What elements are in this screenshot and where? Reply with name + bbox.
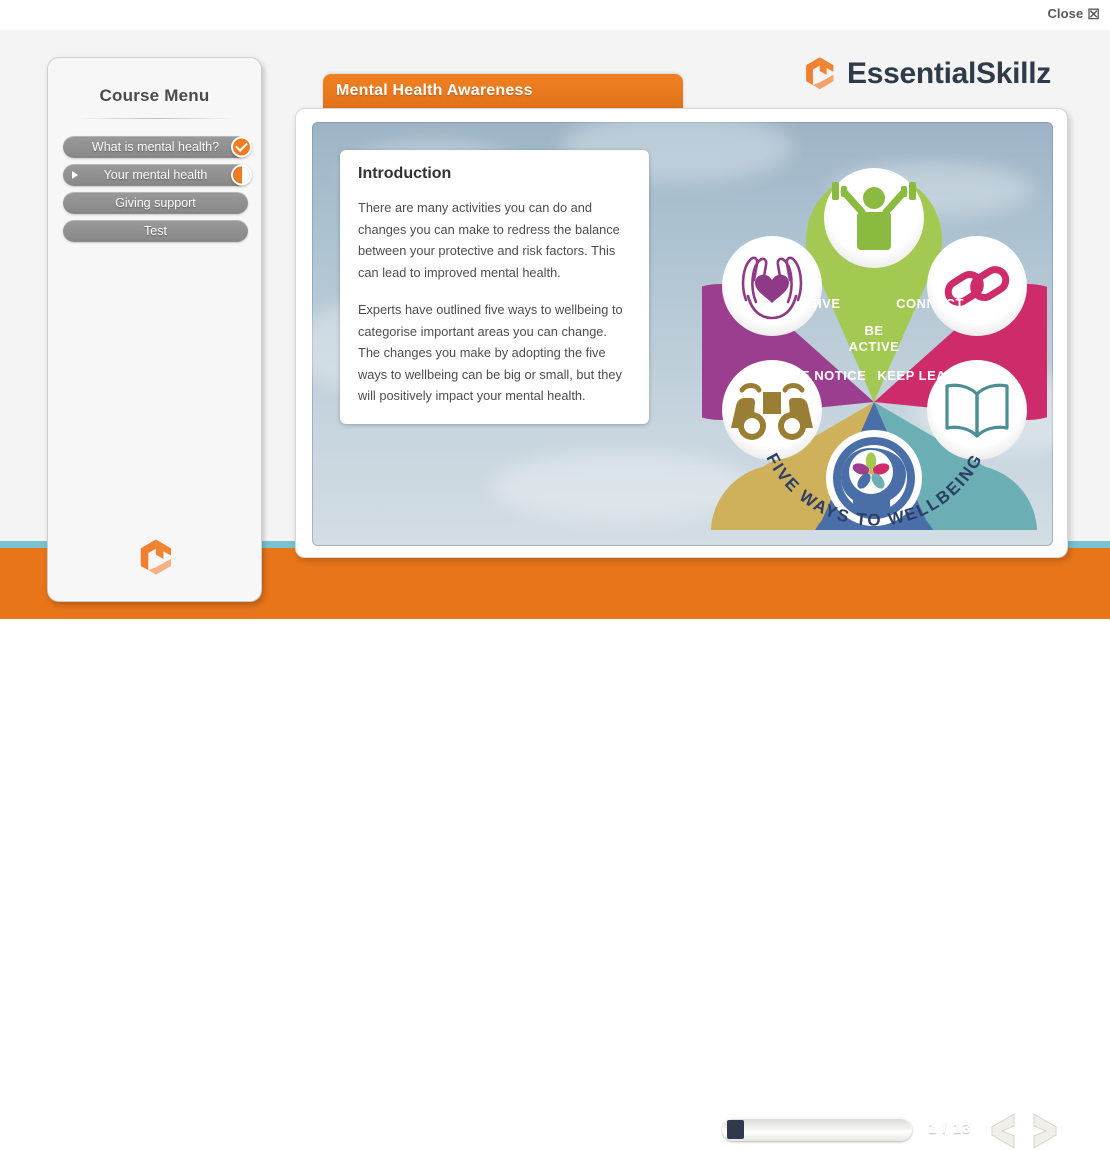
introduction-paragraph-1: There are many activities you can do and…: [358, 197, 631, 283]
brand-name: EssentialSkillz: [847, 57, 1051, 91]
next-page-button[interactable]: [1028, 1112, 1060, 1150]
sidebar-item-label: What is mental health?: [92, 140, 219, 154]
petal-label-connect: CONNECT: [896, 296, 964, 311]
page-title: Mental Health Awareness: [336, 82, 533, 100]
five-ways-to-wellbeing-graphic: GIVE BE ACTIVE CONNECT TAKE NOTICE KEEP …: [702, 130, 1047, 530]
course-menu-list: What is mental health? Your mental healt…: [63, 136, 248, 248]
introduction-panel: Introduction There are many activities y…: [340, 150, 649, 424]
player-navigation-bar: 1 / 13: [0, 548, 1110, 619]
slide-media-area: Introduction There are many activities y…: [312, 122, 1053, 546]
slide-content-card: Introduction There are many activities y…: [295, 108, 1068, 558]
be-active-icon-disc: [824, 168, 924, 268]
essentialskillz-logo-mark: [800, 55, 838, 93]
petal-label-keep-learning: KEEP LEARNING: [877, 368, 990, 383]
sidebar-item-test[interactable]: Test: [63, 220, 248, 242]
introduction-heading: Introduction: [358, 165, 631, 183]
course-menu-title: Course Menu: [48, 86, 261, 106]
page-indicator: 1 / 13: [928, 1120, 972, 1137]
boxed-x-icon: ☒: [1087, 7, 1100, 21]
brand-logo: EssentialSkillz: [800, 55, 1051, 93]
previous-page-button[interactable]: [988, 1112, 1020, 1150]
sidebar-item-your-mental-health[interactable]: Your mental health: [63, 164, 248, 186]
sidebar-item-giving-support[interactable]: Giving support: [63, 192, 248, 214]
check-circle-icon: [231, 137, 252, 158]
lesson-title-tab: Mental Health Awareness: [323, 74, 683, 110]
half-circle-icon: [231, 165, 252, 186]
close-button[interactable]: Close ☒: [1047, 6, 1100, 21]
sidebar-item-label: Giving support: [115, 196, 196, 210]
give-icon-disc: [722, 236, 822, 336]
current-item-arrow-icon: [72, 171, 78, 179]
sidebar-item-label: Test: [144, 224, 167, 238]
sidebar-item-what-is-mental-health[interactable]: What is mental health?: [63, 136, 248, 158]
progress-slider-handle[interactable]: [727, 1120, 744, 1139]
sidebar-item-label: Your mental health: [104, 168, 208, 182]
progress-slider[interactable]: [722, 1118, 912, 1141]
course-menu-panel: Course Menu What is mental health? Your …: [47, 57, 262, 602]
connect-icon-disc: [927, 236, 1027, 336]
menu-divider: [76, 118, 235, 119]
petal-label-be-active-2: ACTIVE: [849, 339, 900, 354]
petal-label-give: GIVE: [807, 296, 840, 311]
window-top-bar: Close ☒: [0, 0, 1110, 30]
introduction-paragraph-2: Experts have outlined five ways to wellb…: [358, 299, 631, 407]
close-button-label: Close: [1047, 6, 1083, 21]
petal-label-be-active: BE: [864, 323, 883, 338]
course-player-stage: EssentialSkillz Course Menu What is ment…: [0, 30, 1110, 619]
petal-label-take-notice: TAKE NOTICE: [774, 368, 867, 383]
